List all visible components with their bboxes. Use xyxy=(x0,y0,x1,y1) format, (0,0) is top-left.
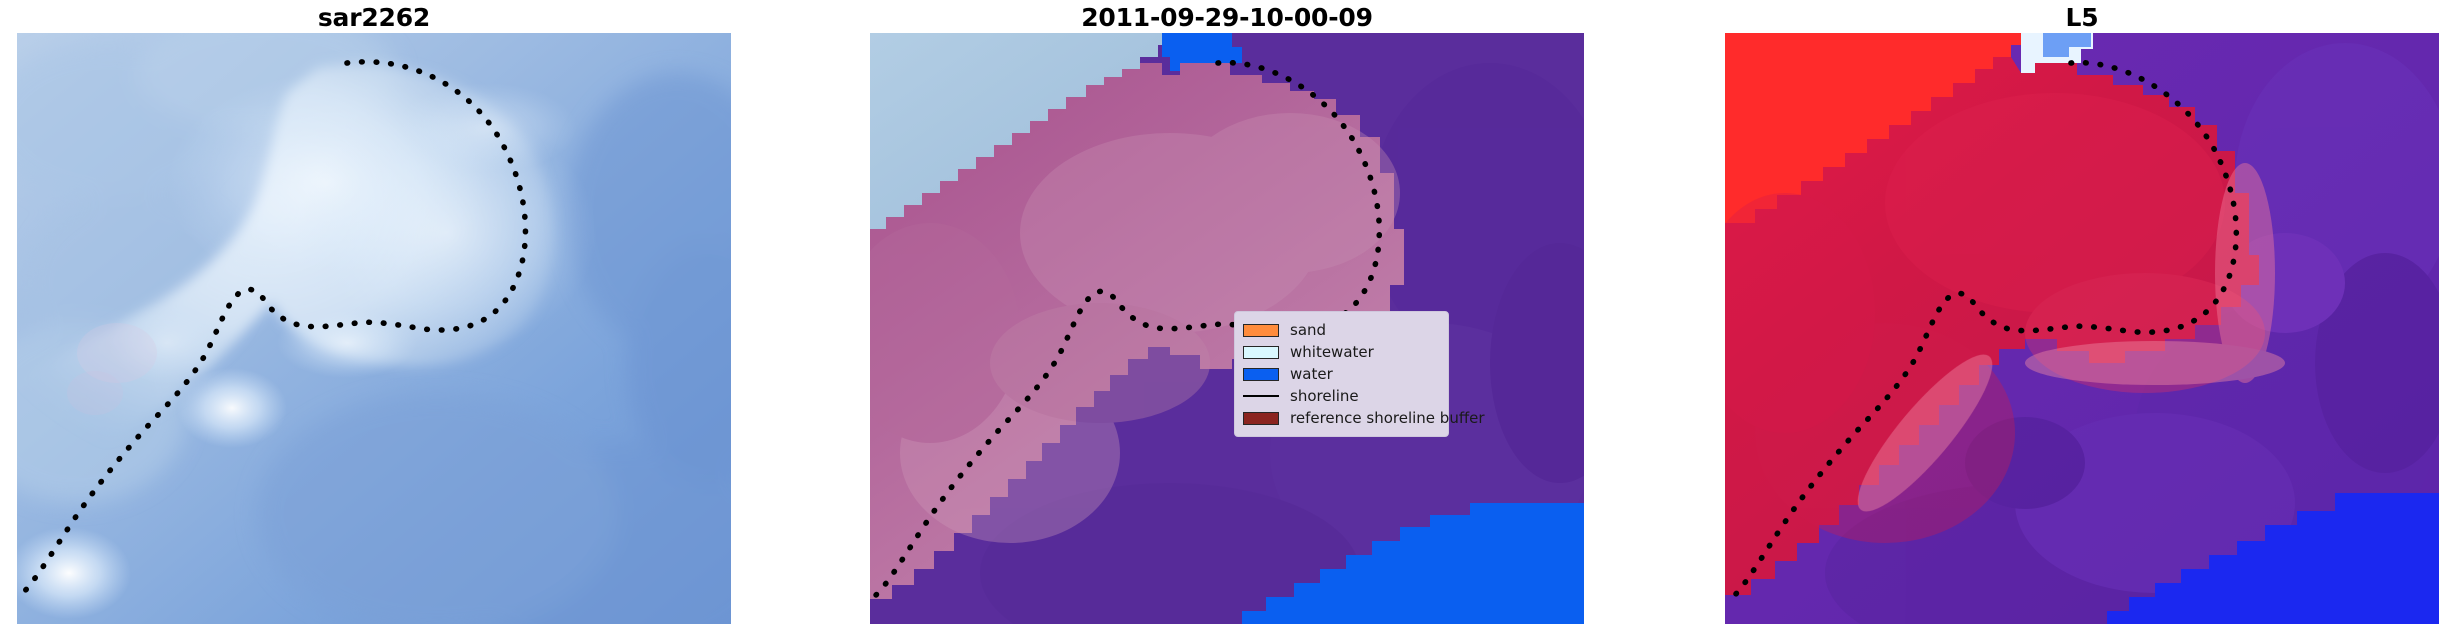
panel-l5-image xyxy=(1725,33,2439,624)
legend-item-water[interactable]: water xyxy=(1243,363,1439,385)
water-swatch-icon xyxy=(1243,363,1283,385)
figure-canvas: sar2262 xyxy=(0,0,2460,640)
sand-swatch-icon xyxy=(1243,319,1283,341)
panel-classified-title: 2011-09-29-10-00-09 xyxy=(870,4,1584,32)
legend-item-shoreline[interactable]: shoreline xyxy=(1243,385,1439,407)
shoreline-line-icon xyxy=(1243,385,1283,407)
legend-label-shoreline: shoreline xyxy=(1283,387,1359,405)
legend-label-whitewater: whitewater xyxy=(1283,343,1374,361)
reference-buffer-swatch-icon xyxy=(1243,407,1283,429)
panel-classified: 2011-09-29-10-00-09 xyxy=(870,0,1584,640)
legend-item-reference-shoreline-buffer[interactable]: reference shoreline buffer xyxy=(1243,407,1439,429)
whitewater-swatch-icon xyxy=(1243,341,1283,363)
panel-classified-image xyxy=(870,33,1584,624)
legend-item-sand[interactable]: sand xyxy=(1243,319,1439,341)
legend-label-water: water xyxy=(1283,365,1333,383)
panel-sar-title: sar2262 xyxy=(17,4,731,32)
map-legend: sand whitewater water shoreline xyxy=(1234,311,1449,437)
legend-item-whitewater[interactable]: whitewater xyxy=(1243,341,1439,363)
panel-l5: L5 xyxy=(1725,0,2439,640)
legend-label-sand: sand xyxy=(1283,321,1326,339)
legend-label-reference-shoreline-buffer: reference shoreline buffer xyxy=(1283,409,1485,427)
panel-sar: sar2262 xyxy=(17,0,731,640)
panel-sar-image xyxy=(17,33,731,624)
panel-l5-title: L5 xyxy=(1725,4,2439,32)
